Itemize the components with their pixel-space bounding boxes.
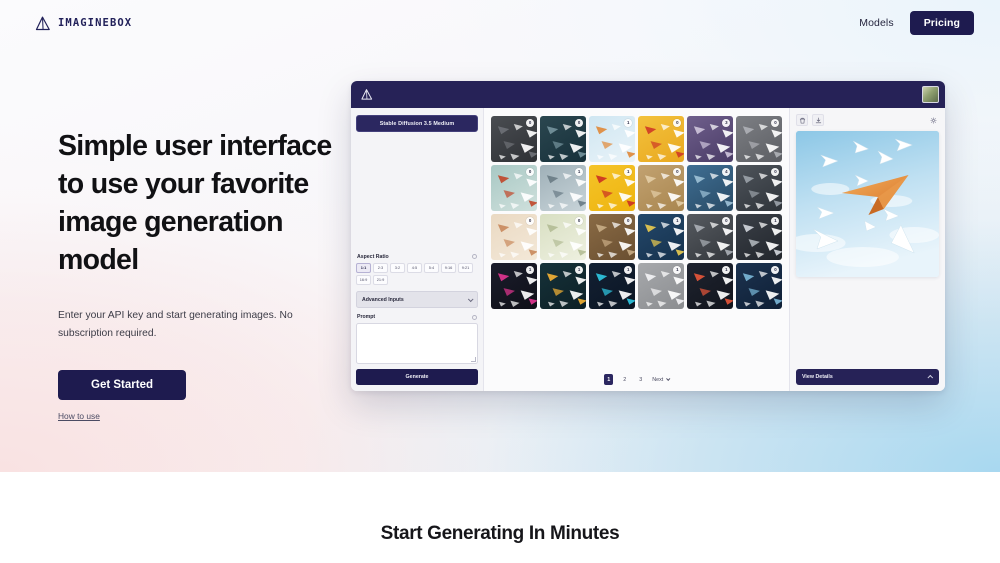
nav-pricing-button[interactable]: Pricing bbox=[910, 11, 974, 35]
info-icon[interactable] bbox=[472, 254, 477, 259]
gallery-image[interactable]: 1 bbox=[589, 165, 635, 211]
view-details-bar[interactable]: View Details bbox=[796, 369, 939, 385]
advanced-inputs-label: Advanced Inputs bbox=[362, 297, 404, 303]
next-page-label: Next bbox=[652, 377, 663, 383]
aspect-ratio-option[interactable]: 5:4 bbox=[424, 263, 439, 273]
user-avatar-thumbnail[interactable] bbox=[922, 86, 939, 103]
gallery-image[interactable]: 0 bbox=[638, 165, 684, 211]
panel-spacer bbox=[356, 132, 478, 254]
page-button[interactable]: 2 bbox=[620, 377, 629, 383]
image-badge-count[interactable]: 0 bbox=[526, 119, 534, 127]
page-button[interactable]: 3 bbox=[636, 377, 645, 383]
aspect-ratio-option[interactable]: 2:3 bbox=[373, 263, 388, 273]
aspect-ratio-option[interactable]: 21:9 bbox=[373, 275, 388, 285]
image-badge-count[interactable]: 4 bbox=[722, 168, 730, 176]
gallery-image[interactable]: 0 bbox=[491, 165, 537, 211]
preview-panel: View Details bbox=[790, 108, 945, 391]
app-titlebar bbox=[351, 81, 945, 108]
image-badge-count[interactable]: 0 bbox=[526, 168, 534, 176]
download-icon bbox=[815, 117, 822, 124]
image-badge-count[interactable]: 0 bbox=[575, 217, 583, 225]
paper-plane-triangle-icon bbox=[34, 15, 51, 32]
prompt-label: Prompt bbox=[357, 314, 375, 320]
gallery-image[interactable]: 4 bbox=[687, 165, 733, 211]
image-badge-count[interactable]: 1 bbox=[624, 266, 632, 274]
gallery-image[interactable]: 0 bbox=[736, 116, 782, 162]
aspect-ratio-option[interactable]: 1:1 bbox=[356, 263, 371, 273]
pagination: 1 2 3 Next bbox=[491, 368, 782, 385]
hero-subtitle: Enter your API key and start generating … bbox=[58, 307, 310, 343]
page-button[interactable]: 1 bbox=[604, 374, 613, 385]
gallery-image[interactable]: 0 bbox=[589, 214, 635, 260]
aspect-ratio-header: Aspect Ratio bbox=[357, 254, 477, 260]
chevron-right-icon bbox=[666, 377, 670, 381]
next-page-button[interactable]: Next bbox=[652, 377, 669, 383]
image-badge-count[interactable]: 0 bbox=[673, 119, 681, 127]
gallery-image[interactable]: 1 bbox=[687, 263, 733, 309]
hero-title: Simple user interface to use your favori… bbox=[58, 128, 358, 280]
gallery-image[interactable]: 1 bbox=[589, 116, 635, 162]
info-icon[interactable] bbox=[472, 315, 477, 320]
gallery-image[interactable]: 0 bbox=[540, 116, 586, 162]
gallery-image[interactable]: 0 bbox=[687, 214, 733, 260]
prompt-input[interactable] bbox=[356, 323, 478, 364]
image-gallery: 001030011040000101111110 1 2 3 Next bbox=[484, 108, 790, 391]
image-badge-count[interactable]: 3 bbox=[722, 119, 730, 127]
paper-plane-triangle-icon[interactable] bbox=[360, 88, 373, 101]
image-badge-count[interactable]: 0 bbox=[624, 217, 632, 225]
brand-logo[interactable]: IMAGINEBOX bbox=[34, 15, 132, 32]
image-grid: 001030011040000101111110 bbox=[491, 116, 782, 309]
start-generating-section: Start Generating In Minutes bbox=[0, 472, 1000, 563]
get-started-button[interactable]: Get Started bbox=[58, 370, 186, 400]
image-badge-count[interactable]: 1 bbox=[624, 119, 632, 127]
aspect-ratio-options: 1:1 2:3 3:2 4:5 5:4 9:16 9:21 16:9 21:9 bbox=[356, 263, 478, 285]
image-badge-count[interactable]: 0 bbox=[673, 168, 681, 176]
gallery-image[interactable]: 1 bbox=[540, 165, 586, 211]
brand-name: IMAGINEBOX bbox=[58, 17, 132, 29]
controls-panel: Stable Diffusion 3.5 Medium Aspect Ratio… bbox=[351, 108, 484, 391]
app-mockup: Stable Diffusion 3.5 Medium Aspect Ratio… bbox=[351, 81, 945, 391]
aspect-ratio-option[interactable]: 4:5 bbox=[407, 263, 422, 273]
model-selector[interactable]: Stable Diffusion 3.5 Medium bbox=[356, 115, 478, 132]
top-navigation: IMAGINEBOX Models Pricing bbox=[0, 0, 1000, 46]
aspect-ratio-option[interactable]: 16:9 bbox=[356, 275, 371, 285]
preview-toolbar bbox=[796, 114, 939, 126]
gallery-image[interactable]: 1 bbox=[589, 263, 635, 309]
gallery-image[interactable]: 1 bbox=[638, 263, 684, 309]
gallery-image[interactable]: 0 bbox=[491, 214, 537, 260]
advanced-inputs-accordion[interactable]: Advanced Inputs bbox=[356, 291, 478, 308]
aspect-ratio-option[interactable]: 3:2 bbox=[390, 263, 405, 273]
image-badge-count[interactable]: 1 bbox=[673, 217, 681, 225]
gallery-image[interactable]: 0 bbox=[491, 116, 537, 162]
download-button[interactable] bbox=[812, 114, 824, 126]
gallery-image[interactable]: 1 bbox=[540, 263, 586, 309]
hero-section: IMAGINEBOX Models Pricing Simple user in… bbox=[0, 0, 1000, 472]
how-to-use-link[interactable]: How to use bbox=[58, 411, 100, 421]
gallery-image[interactable]: 0 bbox=[736, 165, 782, 211]
generate-button[interactable]: Generate bbox=[356, 369, 478, 385]
view-details-label: View Details bbox=[802, 374, 833, 380]
gallery-image[interactable]: 0 bbox=[638, 116, 684, 162]
gallery-image[interactable]: 1 bbox=[491, 263, 537, 309]
gear-icon bbox=[930, 117, 937, 124]
aspect-ratio-option[interactable]: 9:21 bbox=[458, 263, 473, 273]
gallery-image[interactable]: 0 bbox=[540, 214, 586, 260]
section-title: Start Generating In Minutes bbox=[381, 523, 620, 545]
preview-image[interactable] bbox=[796, 131, 939, 277]
chevron-down-icon bbox=[468, 296, 474, 302]
image-badge-count[interactable]: 1 bbox=[575, 266, 583, 274]
image-badge-count[interactable]: 0 bbox=[575, 119, 583, 127]
aspect-ratio-label: Aspect Ratio bbox=[357, 254, 389, 260]
gallery-image[interactable]: 0 bbox=[736, 263, 782, 309]
aspect-ratio-option[interactable]: 9:16 bbox=[441, 263, 456, 273]
image-badge-count[interactable]: 0 bbox=[526, 217, 534, 225]
app-body: Stable Diffusion 3.5 Medium Aspect Ratio… bbox=[351, 108, 945, 391]
nav-actions: Models Pricing bbox=[859, 11, 974, 35]
chevron-up-icon bbox=[927, 375, 933, 381]
trash-icon bbox=[799, 117, 806, 124]
prompt-header: Prompt bbox=[357, 314, 477, 320]
gallery-image[interactable]: 3 bbox=[687, 116, 733, 162]
nav-link-models[interactable]: Models bbox=[859, 17, 893, 29]
preview-spacer bbox=[796, 277, 939, 369]
settings-button[interactable] bbox=[927, 114, 939, 126]
gallery-image[interactable]: 1 bbox=[638, 214, 684, 260]
image-badge-count[interactable]: 1 bbox=[624, 168, 632, 176]
gallery-image[interactable]: 1 bbox=[736, 214, 782, 260]
hero-copy: Simple user interface to use your favori… bbox=[58, 128, 358, 424]
image-badge-count[interactable]: 1 bbox=[526, 266, 534, 274]
delete-button[interactable] bbox=[796, 114, 808, 126]
image-badge-count[interactable]: 1 bbox=[575, 168, 583, 176]
